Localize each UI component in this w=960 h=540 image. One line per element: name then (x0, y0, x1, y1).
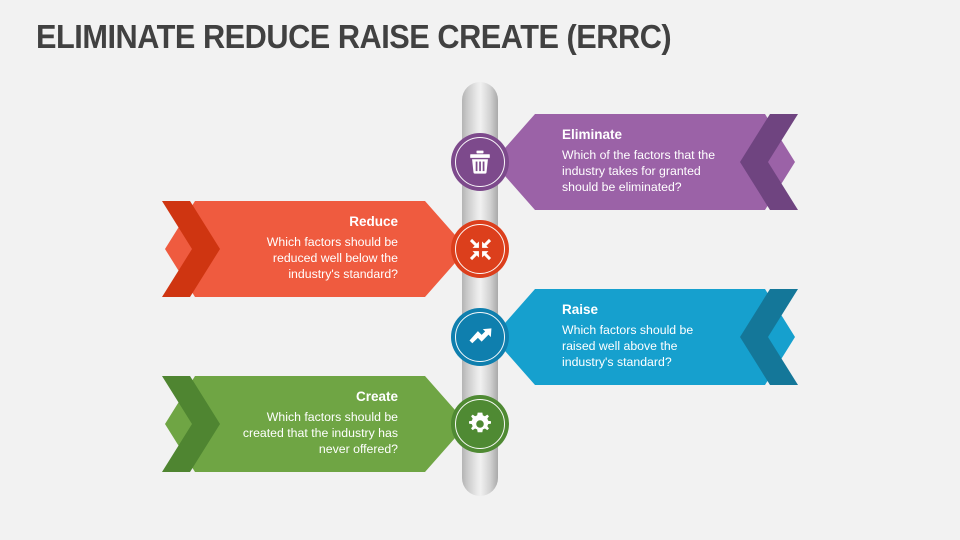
banner-text-reduce: Reduce Which factors should be reduced w… (168, 201, 398, 283)
errc-row-raise[interactable]: Raise Which factors should be raised wel… (0, 289, 960, 385)
errc-row-reduce[interactable]: Reduce Which factors should be reduced w… (0, 201, 960, 297)
banner-body-text-eliminate: Which of the factors that the industry t… (562, 147, 792, 196)
banner-text-raise: Raise Which factors should be raised wel… (562, 289, 792, 371)
banner-text-create: Create Which factors should be created t… (168, 376, 398, 458)
errc-row-create[interactable]: Create Which factors should be created t… (0, 376, 960, 472)
trending-up-icon (451, 308, 509, 366)
banner-heading-create: Create (168, 389, 398, 404)
banner-text-eliminate: Eliminate Which of the factors that the … (562, 114, 792, 196)
icon-circle-raise[interactable] (451, 308, 509, 366)
compress-arrows-icon (451, 220, 509, 278)
icon-circle-eliminate[interactable] (451, 133, 509, 191)
errc-slide: ELIMINATE REDUCE RAISE CREATE (ERRC) Eli… (0, 0, 960, 540)
icon-circle-reduce[interactable] (451, 220, 509, 278)
banner-heading-reduce: Reduce (168, 214, 398, 229)
page-title: ELIMINATE REDUCE RAISE CREATE (ERRC) (36, 18, 671, 56)
icon-circle-create[interactable] (451, 395, 509, 453)
banner-body-text-create: Which factors should be created that the… (168, 409, 398, 458)
trash-icon (451, 133, 509, 191)
banner-body-text-reduce: Which factors should be reduced well bel… (168, 234, 398, 283)
gear-icon (451, 395, 509, 453)
errc-row-eliminate[interactable]: Eliminate Which of the factors that the … (0, 114, 960, 210)
banner-body-text-raise: Which factors should be raised well abov… (562, 322, 792, 371)
banner-heading-eliminate: Eliminate (562, 127, 792, 142)
banner-heading-raise: Raise (562, 302, 792, 317)
